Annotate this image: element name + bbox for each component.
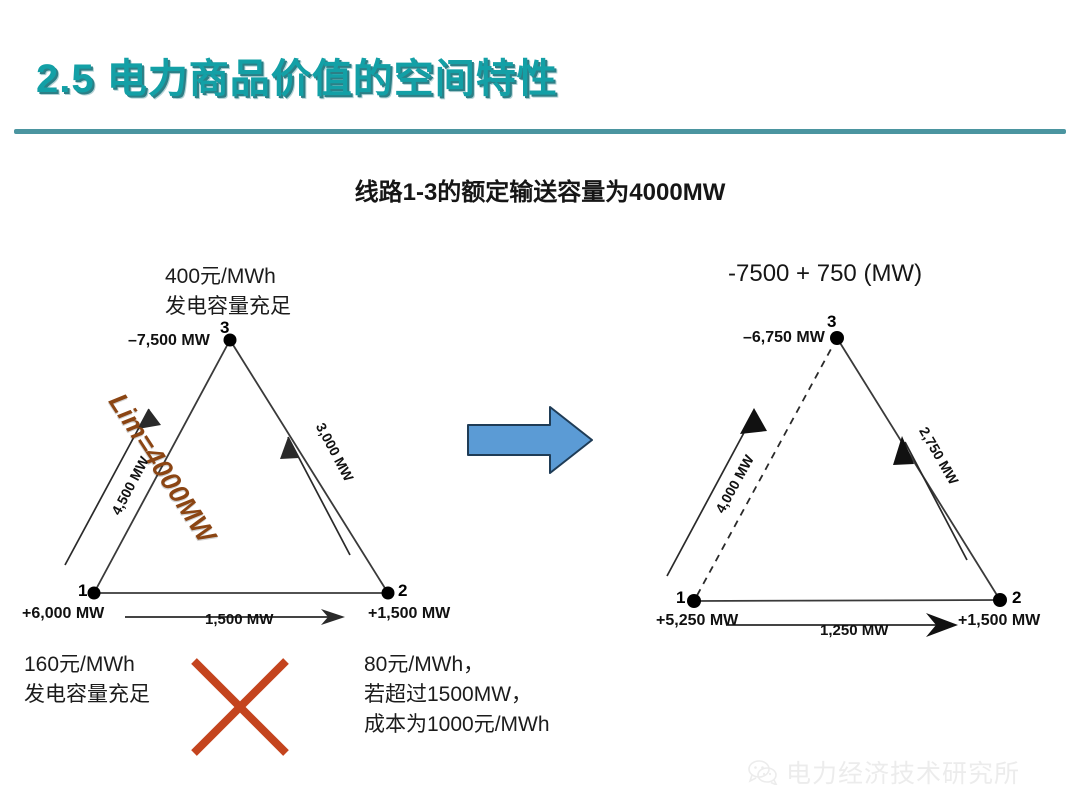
watermark: 电力经济技术研究所 (748, 754, 1020, 790)
wechat-icon (748, 759, 778, 785)
right-node-2-dot (993, 593, 1007, 607)
right-diagram-title: -7500 + 750 (MW) (728, 260, 922, 288)
left-edge-1-2-flow-label: 1,500 MW (205, 611, 273, 628)
right-node-3-label: 3 (827, 312, 836, 332)
node2-threshold: 若超过1500MW， (364, 680, 550, 710)
left-node3-price: 400元/MWh (165, 262, 291, 292)
subtitle: 线路1-3的额定输送容量为4000MW (0, 172, 1080, 207)
node1-capacity: 发电容量充足 (24, 680, 150, 710)
left-edge-2-3 (230, 340, 388, 593)
node1-price: 160元/MWh (24, 650, 150, 680)
left-node3-price-note: 400元/MWh 发电容量充足 (165, 262, 291, 322)
left-node-2-dot (382, 587, 395, 600)
left-node-2-label: 2 (398, 581, 407, 601)
left-node-1-label: 1 (78, 581, 87, 601)
node2-price: 80元/MWh， (364, 650, 550, 680)
left-node-1-injection: +6,000 MW (22, 605, 104, 623)
right-node-1-injection: +5,250 MW (656, 612, 738, 630)
right-edge-1-2-flow-label: 1,250 MW (820, 622, 888, 639)
right-node-2-label: 2 (1012, 588, 1021, 608)
right-network-diagram (650, 330, 1050, 620)
node2-over-cost: 成本为1000元/MWh (364, 710, 550, 740)
right-node-1-label: 1 (676, 588, 685, 608)
watermark-text: 电力经济技术研究所 (786, 754, 1020, 790)
right-edge-1-3-dashed (694, 338, 837, 601)
right-flow-arrow-1-3 (667, 408, 767, 576)
title-divider (14, 129, 1066, 134)
right-node-2-injection: +1,500 MW (958, 612, 1040, 630)
transition-arrow (466, 403, 596, 477)
left-network-diagram (40, 325, 460, 625)
left-node-3-injection: –7,500 MW (128, 332, 210, 350)
right-node-1-dot (687, 594, 701, 608)
right-node-3-injection: –6,750 MW (743, 329, 825, 347)
cross-out-icon (188, 655, 292, 759)
right-edge-1-2 (694, 600, 1000, 601)
left-node-3-label: 3 (220, 318, 229, 338)
left-node-2-injection: +1,500 MW (368, 605, 450, 623)
left-node-1-dot (88, 587, 101, 600)
page-title: 2.5 电力商品价值的空间特性 (36, 46, 558, 104)
bottom-mid-annotation: 80元/MWh， 若超过1500MW， 成本为1000元/MWh (364, 650, 550, 740)
bottom-left-annotation: 160元/MWh 发电容量充足 (24, 650, 150, 710)
right-node-3-dot (830, 331, 844, 345)
